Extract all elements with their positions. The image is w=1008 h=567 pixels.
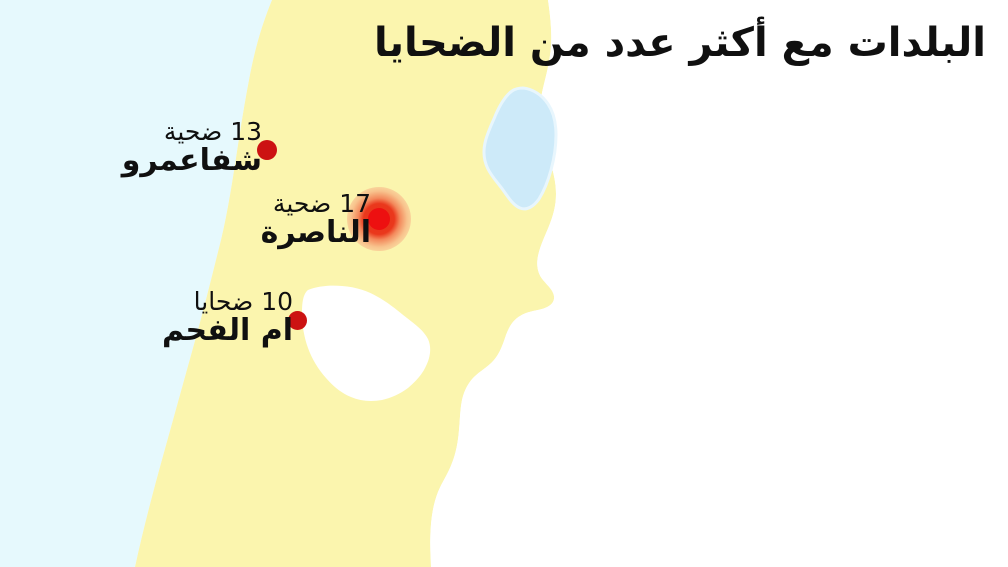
map-marker-nazareth[interactable]: [368, 208, 390, 230]
city-name-umm-al-fahm: ام الفحم: [162, 314, 293, 347]
map-label-nazareth: 17 ضحية الناصرة: [261, 190, 371, 249]
city-name-shefa-amr: شفاعمرو: [122, 144, 262, 177]
page-title: البلدات مع أكثر عدد من الضحايا: [226, 22, 986, 64]
map-graphic: [0, 0, 1008, 567]
map-label-umm-al-fahm: 10 ضحايا ام الفحم: [162, 288, 293, 347]
map-label-shefa-amr: 13 ضحية شفاعمرو: [122, 118, 262, 177]
victim-count-nazareth: 17 ضحية: [261, 190, 371, 218]
city-name-nazareth: الناصرة: [261, 216, 371, 249]
victim-count-shefa-amr: 13 ضحية: [122, 118, 262, 146]
victim-count-umm-al-fahm: 10 ضحايا: [162, 288, 293, 316]
map-infographic: البلدات مع أكثر عدد من الضحايا 13 ضحية ش…: [0, 0, 1008, 567]
